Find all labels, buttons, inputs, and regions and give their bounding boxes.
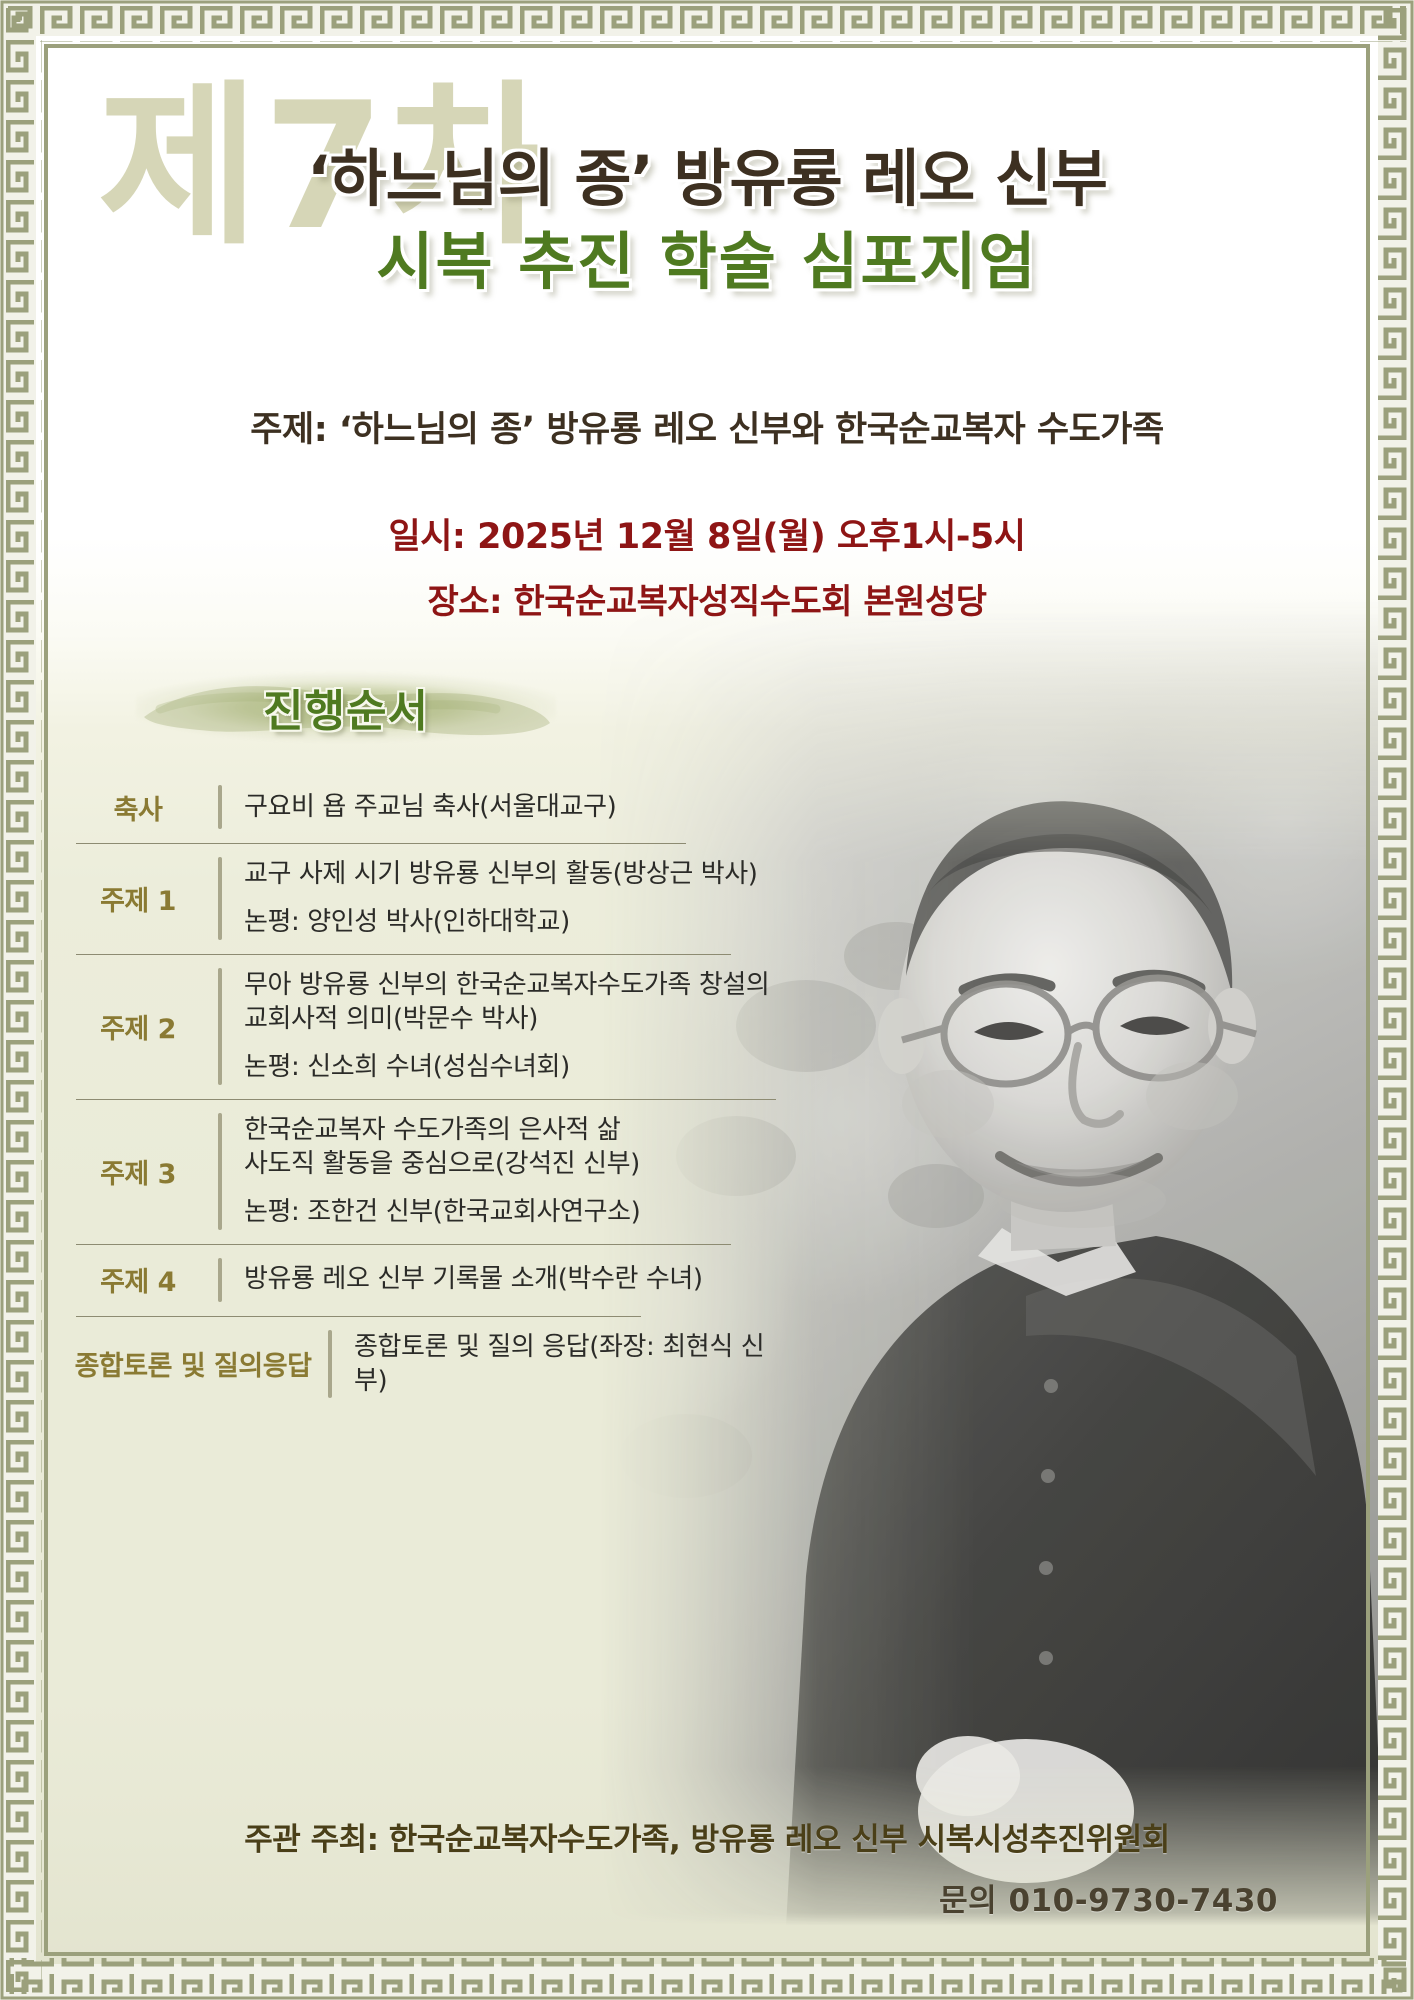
- program-row-topic-1: 주제 1 교구 사제 시기 방유룡 신부의 활동(방상근 박사) 논평: 양인성…: [58, 843, 778, 954]
- row-divider: [218, 1258, 222, 1302]
- program-row-discussant: 논평: 조한건 신부(한국교회사연구소): [244, 1195, 778, 1229]
- program-row-panel-discussion: 종합토론 및 질의응답 종합토론 및 질의 응답(좌장: 최현식 신부): [58, 1316, 778, 1413]
- row-divider: [218, 1113, 222, 1230]
- program-row-body: 구요비 욥 주교님 축사(서울대교구): [244, 790, 778, 824]
- event-date-time: 일시: 2025년 12월 8일(월) 오후1시-5시: [36, 508, 1378, 559]
- symposium-theme: 주제: ‘하느님의 종’ 방유룡 레오 신부와 한국순교복자 수도가족: [36, 401, 1378, 452]
- program-row-body: 방유룡 레오 신부 기록물 소개(박수란 수녀): [244, 1262, 778, 1296]
- organizers-line: 주관 주최: 한국순교복자수도가족, 방유룡 레오 신부 시복시성추진위원회: [36, 1814, 1378, 1859]
- program-row-main-2: 사도직 활동을 중심으로(강석진 신부): [244, 1147, 778, 1181]
- program-row-main: 방유룡 레오 신부 기록물 소개(박수란 수녀): [244, 1262, 778, 1296]
- program-row-label: 종합토론 및 질의응답: [58, 1344, 328, 1383]
- program-row-topic-4: 주제 4 방유룡 레오 신부 기록물 소개(박수란 수녀): [58, 1244, 778, 1316]
- program-row-main: 무아 방유룡 신부의 한국순교복자수도가족 창설의: [244, 968, 778, 1002]
- program-header: 진행순서: [136, 661, 556, 751]
- row-divider: [218, 857, 222, 940]
- row-divider: [218, 785, 222, 829]
- program-row-main-2: 교회사적 의미(박문수 박사): [244, 1002, 778, 1036]
- program-row-body: 교구 사제 시기 방유룡 신부의 활동(방상근 박사) 논평: 양인성 박사(인…: [244, 857, 778, 940]
- program-table: 축사 구요비 욥 주교님 축사(서울대교구) 주제 1 교구 사제 시기 방유룡…: [58, 771, 778, 1412]
- program-row-main: 종합토론 및 질의 응답(좌장: 최현식 신부): [354, 1330, 778, 1399]
- program-row-topic-3: 주제 3 한국순교복자 수도가족의 은사적 삶 사도직 활동을 중심으로(강석진…: [58, 1099, 778, 1244]
- program-row-discussant: 논평: 양인성 박사(인하대학교): [244, 905, 778, 939]
- program-row-topic-2: 주제 2 무아 방유룡 신부의 한국순교복자수도가족 창설의 교회사적 의미(박…: [58, 954, 778, 1099]
- poster-canvas: 제7차 ‘하느님의 종’ 방유룡 레오 신부 시복 추진 학술 심포지엄 주제:…: [36, 36, 1378, 1964]
- poster-footer: 주관 주최: 한국순교복자수도가족, 방유룡 레오 신부 시복시성추진위원회 문…: [36, 1814, 1378, 1920]
- title-block: 제7차 ‘하느님의 종’ 방유룡 레오 신부 시복 추진 학술 심포지엄: [36, 64, 1378, 298]
- program-row-greeting: 축사 구요비 욥 주교님 축사(서울대교구): [58, 771, 778, 843]
- row-divider: [218, 968, 222, 1085]
- program-row-label: 주제 3: [58, 1152, 218, 1191]
- program-row-label: 축사: [58, 788, 218, 827]
- program-row-label: 주제 4: [58, 1260, 218, 1299]
- row-divider: [328, 1330, 332, 1399]
- poster-root: 제7차 ‘하느님의 종’ 방유룡 레오 신부 시복 추진 학술 심포지엄 주제:…: [0, 0, 1414, 2000]
- program-header-label: 진행순서: [136, 675, 556, 739]
- program-row-main: 한국순교복자 수도가족의 은사적 삶: [244, 1113, 778, 1147]
- program-row-discussant: 논평: 신소희 수녀(성심수녀회): [244, 1050, 778, 1084]
- program-row-body: 한국순교복자 수도가족의 은사적 삶 사도직 활동을 중심으로(강석진 신부) …: [244, 1113, 778, 1230]
- poster-title-line-2: 시복 추진 학술 심포지엄: [36, 225, 1378, 298]
- program-row-body: 종합토론 및 질의 응답(좌장: 최현식 신부): [354, 1330, 778, 1399]
- poster-title-line-1: ‘하느님의 종’ 방유룡 레오 신부: [36, 142, 1378, 215]
- program-row-label: 주제 1: [58, 879, 218, 918]
- program-row-main: 구요비 욥 주교님 축사(서울대교구): [244, 790, 778, 824]
- program-row-label: 주제 2: [58, 1007, 218, 1046]
- program-row-body: 무아 방유룡 신부의 한국순교복자수도가족 창설의 교회사적 의미(박문수 박사…: [244, 968, 778, 1085]
- program-row-main: 교구 사제 시기 방유룡 신부의 활동(방상근 박사): [244, 857, 778, 891]
- event-venue: 장소: 한국순교복자성직수도회 본원성당: [36, 574, 1378, 623]
- contact-phone: 문의 010-9730-7430: [36, 1875, 1330, 1920]
